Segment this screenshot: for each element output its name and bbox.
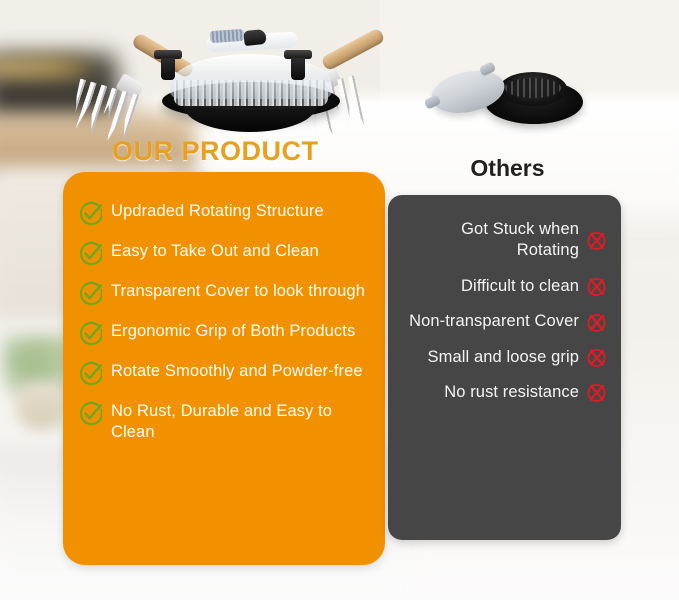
drawback-text: Non-transparent Cover xyxy=(409,311,579,332)
cover-peg-left xyxy=(154,50,182,80)
our-product-title: OUR PRODUCT xyxy=(112,136,319,167)
drawback-item: Got Stuck when Rotating xyxy=(396,219,607,262)
drawback-text: No rust resistance xyxy=(444,382,579,403)
check-circle-icon xyxy=(79,322,102,345)
feature-text: Updraded Rotating Structure xyxy=(111,200,324,222)
cover-handle-knob xyxy=(243,29,266,46)
others-product-photo xyxy=(425,62,585,124)
our-product-panel: Updraded Rotating Structure Easy to Take… xyxy=(63,172,385,565)
feature-item: Transparent Cover to look through xyxy=(79,280,371,305)
check-circle-icon xyxy=(79,402,102,425)
background-plant-pot xyxy=(16,380,68,430)
drawback-text: Small and loose grip xyxy=(428,347,580,368)
others-panel: Got Stuck when Rotating Difficult to cle… xyxy=(388,195,621,540)
feature-item: No Rust, Durable and Easy to Clean xyxy=(79,400,371,443)
cover-handle-grip xyxy=(210,29,245,43)
feature-item: Updraded Rotating Structure xyxy=(79,200,371,225)
drawback-text: Difficult to clean xyxy=(461,276,579,297)
drawback-item: Difficult to clean xyxy=(396,276,607,297)
cross-circle-icon xyxy=(586,312,607,333)
drawback-item: Small and loose grip xyxy=(396,347,607,368)
peg-stem xyxy=(161,58,175,80)
others-bowl-ribs xyxy=(505,78,561,98)
product-comparison-infographic: OUR PRODUCT Others Updraded Rotating Str… xyxy=(0,0,679,600)
cross-circle-icon xyxy=(586,276,607,297)
feature-text: No Rust, Durable and Easy to Clean xyxy=(111,400,371,443)
our-product-feature-list: Updraded Rotating Structure Easy to Take… xyxy=(79,200,371,443)
feature-text: Easy to Take Out and Clean xyxy=(111,240,319,262)
background-appliance-accent xyxy=(0,58,86,78)
drawback-text: Got Stuck when Rotating xyxy=(396,219,579,262)
peg-stem xyxy=(291,58,305,80)
drawback-item: Non-transparent Cover xyxy=(396,311,607,332)
feature-item: Ergonomic Grip of Both Products xyxy=(79,320,371,345)
drawback-item: No rust resistance xyxy=(396,382,607,403)
feature-item: Rotate Smoothly and Powder-free xyxy=(79,360,371,385)
cross-circle-icon xyxy=(586,347,607,368)
others-drawback-list: Got Stuck when Rotating Difficult to cle… xyxy=(396,219,607,404)
check-circle-icon xyxy=(79,282,102,305)
check-circle-icon xyxy=(79,242,102,265)
cross-circle-icon xyxy=(586,230,607,251)
cross-circle-icon xyxy=(586,382,607,403)
feature-item: Easy to Take Out and Clean xyxy=(79,240,371,265)
check-circle-icon xyxy=(79,362,102,385)
claw-wooden-handle xyxy=(320,27,385,71)
feature-text: Rotate Smoothly and Powder-free xyxy=(111,360,363,382)
feature-text: Transparent Cover to look through xyxy=(111,280,365,302)
check-circle-icon xyxy=(79,202,102,225)
others-title: Others xyxy=(400,155,615,182)
feature-text: Ergonomic Grip of Both Products xyxy=(111,320,355,342)
cover-peg-right xyxy=(284,50,312,80)
